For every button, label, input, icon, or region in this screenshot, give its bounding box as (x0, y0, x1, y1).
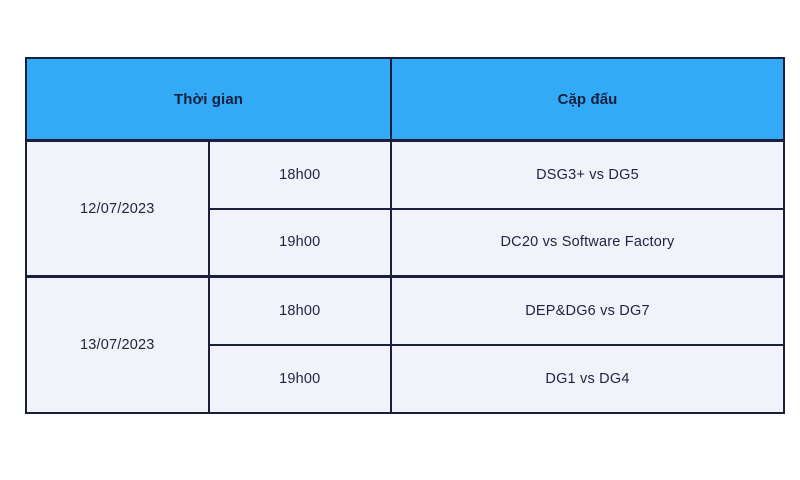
page-root: Thời gian Cặp đấu 12/07/2023 18h00 DSG3+… (0, 0, 800, 480)
cell-time: 19h00 (209, 209, 392, 277)
table-body: 12/07/2023 18h00 DSG3+ vs DG5 19h00 DC20… (26, 141, 784, 413)
header-row: Thời gian Cặp đấu (26, 58, 784, 141)
schedule-table: Thời gian Cặp đấu 12/07/2023 18h00 DSG3+… (25, 57, 785, 414)
cell-match: DSG3+ vs DG5 (391, 141, 784, 209)
cell-time: 19h00 (209, 345, 392, 413)
cell-date: 12/07/2023 (26, 141, 209, 277)
table-row: 13/07/2023 18h00 DEP&DG6 vs DG7 (26, 277, 784, 345)
table-header: Thời gian Cặp đấu (26, 58, 784, 141)
column-header-time: Thời gian (26, 58, 391, 141)
cell-date: 13/07/2023 (26, 277, 209, 413)
cell-match: DG1 vs DG4 (391, 345, 784, 413)
cell-time: 18h00 (209, 141, 392, 209)
cell-time: 18h00 (209, 277, 392, 345)
table-row: 12/07/2023 18h00 DSG3+ vs DG5 (26, 141, 784, 209)
column-header-match: Cặp đấu (391, 58, 784, 141)
cell-match: DC20 vs Software Factory (391, 209, 784, 277)
cell-match: DEP&DG6 vs DG7 (391, 277, 784, 345)
